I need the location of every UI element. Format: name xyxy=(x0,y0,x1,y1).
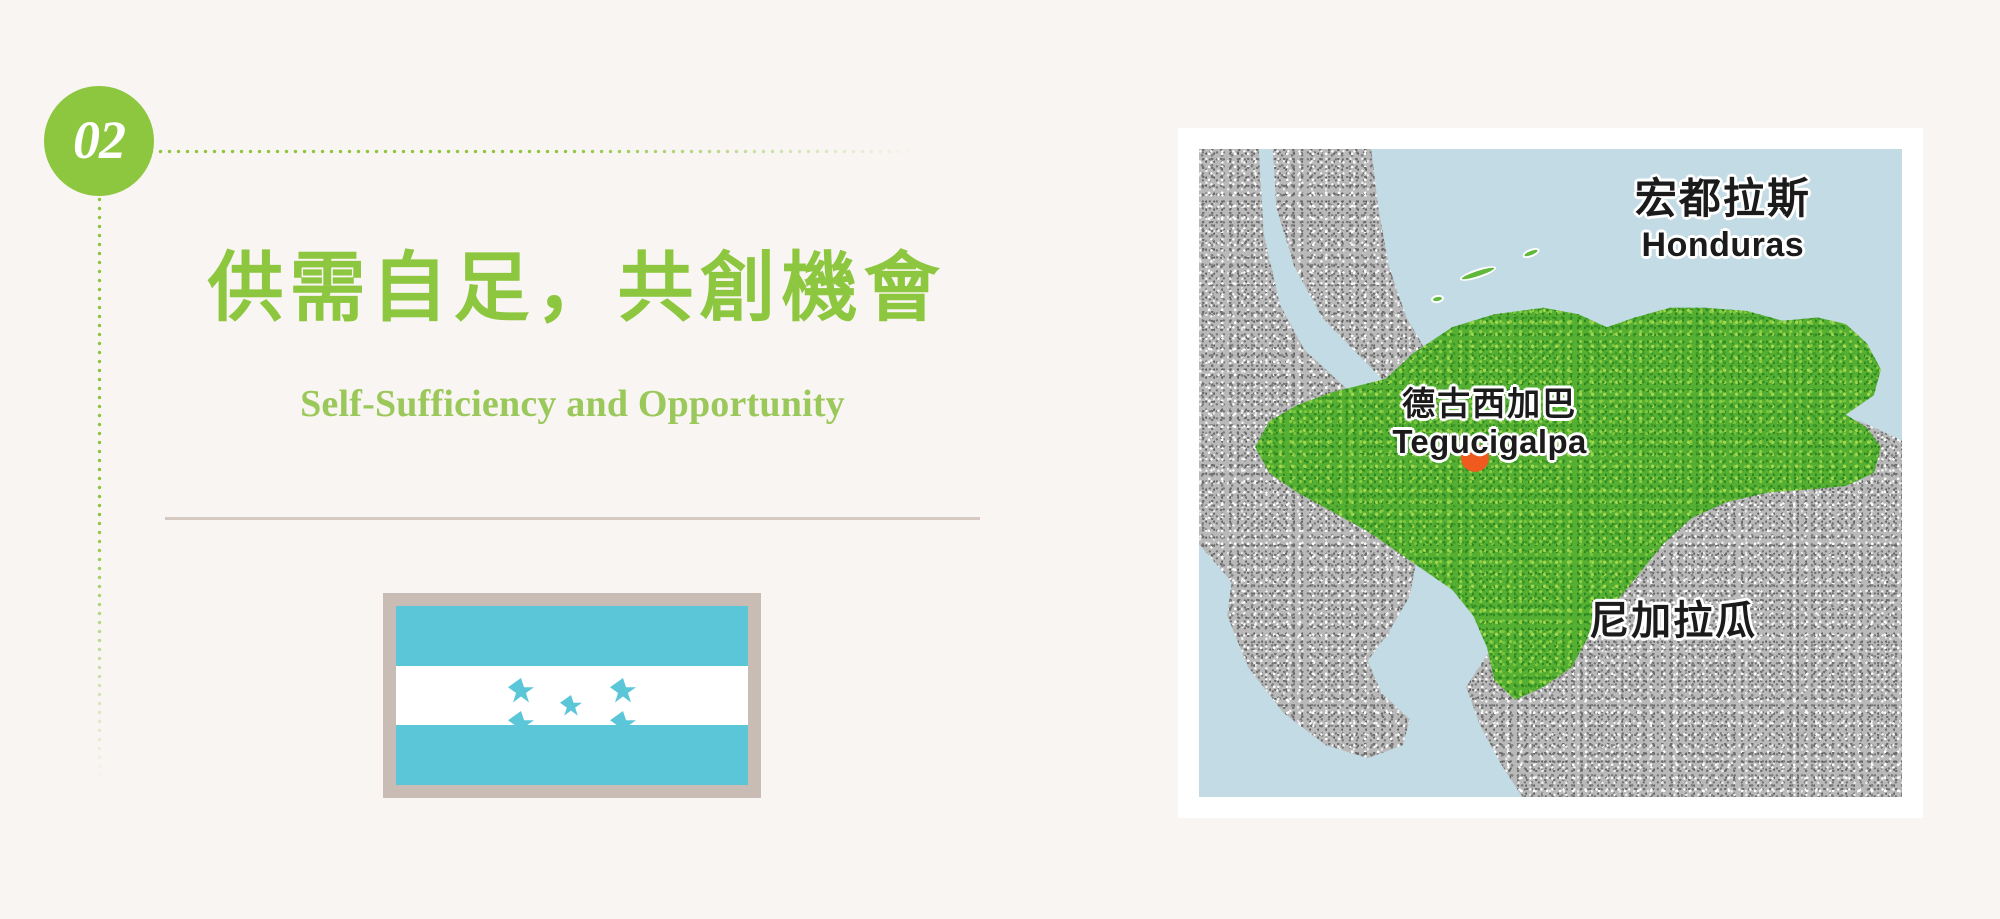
dotted-vertical-guide xyxy=(97,186,102,786)
map-label-tegucigalpa: 德古西加巴 Tegucigalpa xyxy=(1392,386,1587,462)
flag-band-bottom xyxy=(396,725,748,785)
map-canvas: 宏都拉斯 Honduras 德古西加巴 Tegucigalpa 尼加拉瓜 xyxy=(1199,149,1902,797)
flag-band-middle xyxy=(396,666,748,726)
horizontal-divider xyxy=(165,517,980,520)
dotted-horizontal-guide xyxy=(120,149,920,154)
map-label-tegucigalpa-english: Tegucigalpa xyxy=(1392,424,1587,461)
island-utila xyxy=(1430,294,1444,304)
flag-field xyxy=(396,606,748,785)
map-label-nicaragua: 尼加拉瓜 xyxy=(1589,599,1757,644)
flag-band-top xyxy=(396,606,748,666)
page-title-english: Self-Sufficiency and Opportunity xyxy=(165,382,980,426)
map-label-nicaragua-chinese: 尼加拉瓜 xyxy=(1589,599,1757,644)
island-roatan xyxy=(1459,263,1498,283)
map-card: 宏都拉斯 Honduras 德古西加巴 Tegucigalpa 尼加拉瓜 xyxy=(1178,128,1923,818)
headline-block: 供需自足，共創機會 Self-Sufficiency and Opportuni… xyxy=(165,250,980,426)
page-title-chinese: 供需自足，共創機會 xyxy=(173,250,980,330)
honduras-flag xyxy=(383,593,761,798)
map-label-tegucigalpa-chinese: 德古西加巴 xyxy=(1392,386,1587,423)
section-number-label: 02 xyxy=(73,113,125,167)
island-guanaja xyxy=(1522,246,1542,260)
map-label-honduras: 宏都拉斯 Honduras xyxy=(1635,175,1811,264)
section-number-badge: 02 xyxy=(44,86,154,196)
map-label-honduras-chinese: 宏都拉斯 xyxy=(1635,175,1811,222)
slide-canvas: 02 供需自足，共創機會 Self-Sufficiency and Opport… xyxy=(0,0,2000,919)
map-label-honduras-english: Honduras xyxy=(1635,226,1811,264)
